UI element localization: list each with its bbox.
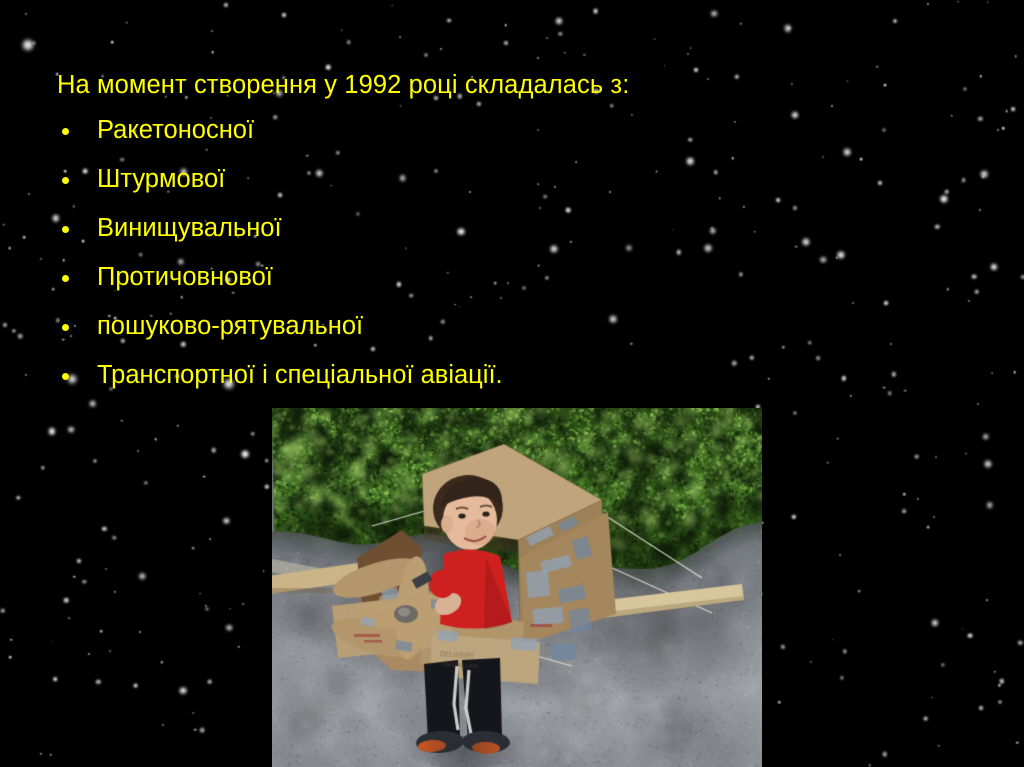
star-dot-icon: [112, 536, 116, 540]
star-dot-icon: [1015, 55, 1018, 58]
star-dot-icon: [211, 30, 213, 32]
star-dot-icon: [967, 300, 969, 302]
star-dot-icon: [707, 78, 709, 80]
star-dot-icon: [927, 526, 930, 529]
star-dot-icon: [504, 24, 507, 27]
list-item: Ракетоносної: [0, 114, 503, 163]
star-dot-icon: [194, 729, 197, 732]
star-dot-icon: [133, 683, 138, 688]
star-dot-icon: [933, 516, 935, 518]
star-dot-icon: [705, 245, 712, 252]
star-dot-icon: [868, 764, 871, 767]
star-dot-icon: [664, 65, 666, 67]
star-dot-icon: [987, 503, 993, 509]
star-dot-icon: [983, 434, 989, 440]
star-dot-icon: [347, 41, 351, 45]
star-dot-icon: [522, 287, 525, 290]
star-dot-icon: [49, 754, 52, 757]
star-dot-icon: [400, 105, 402, 107]
bullet-dot-icon: [62, 128, 69, 135]
star-dot-icon: [242, 451, 249, 458]
star-dot-icon: [121, 420, 123, 422]
star-dot-icon: [100, 630, 103, 633]
star-dot-icon: [242, 603, 244, 605]
star-dot-icon: [32, 41, 35, 44]
star-dot-icon: [1016, 742, 1018, 744]
star-dot-icon: [732, 361, 737, 366]
star-dot-icon: [23, 40, 33, 50]
star-dot-icon: [192, 712, 194, 714]
star-dot-icon: [41, 466, 44, 469]
star-dot-icon: [224, 3, 228, 7]
star-dot-icon: [776, 198, 780, 202]
presentation-slide: На момент створення у 1992 році складала…: [0, 0, 1024, 767]
star-dot-icon: [884, 301, 888, 305]
star-dot-icon: [914, 454, 919, 459]
star-dot-icon: [843, 650, 846, 653]
star-dot-icon: [137, 450, 139, 452]
star-dot-icon: [941, 195, 948, 202]
star-dot-icon: [803, 239, 810, 246]
star-dot-icon: [265, 459, 269, 463]
bullet-list: Ракетоносної Штурмової Винищувальної Про…: [0, 114, 503, 408]
star-dot-icon: [739, 23, 741, 25]
star-dot-icon: [10, 638, 13, 641]
star-dot-icon: [962, 178, 966, 182]
star-dot-icon: [997, 129, 999, 131]
star-dot-icon: [507, 282, 509, 284]
star-dot-icon: [895, 20, 897, 22]
star-dot-icon: [980, 75, 982, 77]
star-dot-icon: [251, 432, 255, 436]
star-dot-icon: [200, 728, 205, 733]
star-dot-icon: [111, 41, 114, 44]
star-dot-icon: [892, 372, 896, 376]
star-dot-icon: [88, 653, 90, 655]
star-dot-icon: [904, 389, 907, 392]
star-dot-icon: [944, 189, 949, 194]
star-dot-icon: [447, 19, 451, 23]
star-dot-icon: [53, 677, 57, 681]
star-dot-icon: [767, 377, 769, 379]
star-dot-icon: [810, 661, 812, 663]
star-dot-icon: [570, 241, 572, 243]
star-dot-icon: [265, 485, 269, 489]
star-dot-icon: [927, 3, 929, 5]
star-dot-icon: [986, 599, 988, 601]
star-dot-icon: [734, 121, 736, 123]
star-dot-icon: [554, 186, 556, 188]
star-dot-icon: [994, 670, 997, 673]
star-dot-icon: [1002, 127, 1005, 130]
star-dot-icon: [694, 68, 698, 72]
star-dot-icon: [226, 625, 232, 631]
star-dot-icon: [827, 461, 829, 463]
star-dot-icon: [82, 580, 85, 583]
star-dot-icon: [282, 13, 286, 17]
star-dot-icon: [546, 37, 548, 39]
star-dot-icon: [238, 646, 240, 648]
star-dot-icon: [836, 437, 839, 440]
star-dot-icon: [990, 264, 996, 270]
star-dot-icon: [858, 590, 861, 593]
star-dot-icon: [1011, 107, 1015, 111]
star-dot-icon: [543, 195, 547, 199]
star-dot-icon: [882, 129, 885, 132]
star-dot-icon: [179, 687, 186, 694]
star-dot-icon: [556, 18, 562, 24]
star-dot-icon: [145, 481, 148, 484]
star-dot-icon: [1018, 640, 1022, 644]
star-dot-icon: [941, 663, 944, 666]
star-dot-icon: [49, 428, 55, 434]
star-dot-icon: [341, 29, 343, 31]
star-dot-icon: [831, 105, 833, 107]
star-dot-icon: [539, 207, 541, 209]
star-dot-icon: [977, 403, 979, 405]
star-dot-icon: [25, 13, 27, 15]
star-dot-icon: [40, 753, 42, 755]
star-dot-icon: [958, 1, 960, 3]
star-dot-icon: [1013, 371, 1016, 374]
star-dot-icon: [964, 87, 967, 90]
star-dot-icon: [734, 75, 738, 79]
list-item: Транспортної і спеціальної авіації.: [0, 359, 503, 408]
star-dot-icon: [792, 514, 796, 518]
star-dot-icon: [550, 245, 557, 252]
star-dot-icon: [931, 697, 933, 699]
star-dot-icon: [575, 161, 577, 163]
star-dot-icon: [211, 51, 214, 54]
star-dot-icon: [538, 183, 540, 185]
star-dot-icon: [841, 376, 845, 380]
bullet-label: Протичовнової: [97, 261, 273, 294]
star-dot-icon: [109, 650, 111, 652]
star-dot-icon: [739, 273, 742, 276]
star-dot-icon: [440, 48, 442, 50]
star-dot-icon: [743, 205, 745, 207]
star-dot-icon: [711, 11, 717, 17]
star-dot-icon: [177, 424, 179, 426]
star-dot-icon: [0, 608, 5, 613]
star-dot-icon: [714, 170, 718, 174]
star-dot-icon: [883, 752, 888, 757]
star-dot-icon: [979, 706, 983, 710]
star-dot-icon: [155, 438, 158, 441]
star-dot-icon: [229, 608, 231, 610]
list-item: пошуково-рятувальної: [0, 310, 503, 359]
star-dot-icon: [965, 453, 967, 455]
star-dot-icon: [883, 84, 886, 87]
star-dot-icon: [718, 197, 721, 200]
star-dot-icon: [923, 716, 928, 721]
star-dot-icon: [981, 171, 988, 178]
star-dot-icon: [68, 427, 74, 433]
star-dot-icon: [125, 22, 127, 24]
star-dot-icon: [545, 277, 548, 280]
star-dot-icon: [732, 157, 734, 159]
star-dot-icon: [778, 701, 781, 704]
star-dot-icon: [852, 302, 854, 304]
star-dot-icon: [972, 274, 977, 279]
star-dot-icon: [832, 639, 834, 641]
star-dot-icon: [836, 256, 838, 258]
star-dot-icon: [788, 27, 790, 29]
star-dot-icon: [689, 138, 693, 142]
star-dot-icon: [985, 461, 992, 468]
star-dot-icon: [974, 289, 979, 294]
bullet-dot-icon: [62, 324, 69, 331]
star-dot-icon: [96, 679, 100, 683]
star-dot-icon: [931, 620, 937, 626]
star-dot-icon: [208, 679, 213, 684]
star-dot-icon: [9, 656, 12, 659]
star-dot-icon: [792, 112, 798, 118]
bullet-dot-icon: [62, 275, 69, 282]
bullet-label: Транспортної і спеціальної авіації.: [97, 359, 503, 392]
star-dot-icon: [1005, 110, 1008, 113]
bullet-label: пошуково-рятувальної: [97, 310, 363, 343]
star-dot-icon: [593, 9, 598, 14]
star-dot-icon: [687, 158, 694, 165]
star-dot-icon: [795, 245, 798, 248]
star-dot-icon: [808, 341, 812, 345]
bullet-dot-icon: [62, 177, 69, 184]
star-dot-icon: [890, 342, 892, 344]
list-item: Протичовнової: [0, 261, 503, 310]
star-dot-icon: [68, 617, 70, 619]
star-dot-icon: [938, 744, 941, 747]
star-dot-icon: [876, 65, 878, 67]
star-dot-icon: [610, 316, 617, 323]
star-dot-icon: [935, 456, 937, 458]
bullet-dot-icon: [62, 373, 69, 380]
star-dot-icon: [753, 230, 756, 233]
star-dot-icon: [162, 724, 164, 726]
star-dot-icon: [710, 228, 715, 233]
star-dot-icon: [840, 677, 843, 680]
star-dot-icon: [883, 386, 886, 389]
star-dot-icon: [105, 568, 107, 570]
star-dot-icon: [609, 191, 611, 193]
star-dot-icon: [968, 633, 973, 638]
star-dot-icon: [654, 38, 656, 40]
star-dot-icon: [791, 83, 793, 85]
star-dot-icon: [399, 36, 401, 38]
star-dot-icon: [878, 181, 882, 185]
star-dot-icon: [893, 19, 897, 23]
star-dot-icon: [917, 498, 919, 500]
list-item: Штурмової: [0, 163, 503, 212]
star-dot-icon: [888, 391, 892, 395]
star-dot-icon: [537, 57, 539, 59]
star-dot-icon: [999, 679, 1004, 684]
star-dot-icon: [16, 496, 19, 499]
star-dot-icon: [77, 559, 81, 563]
list-item: Винищувальної: [0, 212, 503, 261]
star-dot-icon: [998, 684, 1000, 686]
star-dot-icon: [192, 546, 195, 549]
star-dot-icon: [749, 355, 753, 359]
star-dot-icon: [961, 182, 963, 184]
star-dot-icon: [979, 209, 981, 211]
star-dot-icon: [822, 156, 824, 158]
star-dot-icon: [477, 102, 481, 106]
star-dot-icon: [785, 25, 791, 31]
star-dot-icon: [991, 372, 993, 374]
star-dot-icon: [224, 518, 229, 523]
star-dot-icon: [860, 158, 863, 161]
star-dot-icon: [676, 250, 680, 254]
star-dot-icon: [212, 448, 217, 453]
star-dot-icon: [847, 80, 849, 82]
star-dot-icon: [793, 206, 797, 210]
star-dot-icon: [563, 51, 565, 53]
star-dot-icon: [51, 641, 53, 643]
star-dot-icon: [209, 538, 211, 540]
star-dot-icon: [199, 593, 201, 595]
star-dot-icon: [610, 104, 614, 108]
star-dot-icon: [583, 53, 585, 55]
star-dot-icon: [839, 554, 841, 556]
star-dot-icon: [935, 225, 939, 229]
star-dot-icon: [982, 176, 984, 178]
photo-canvas-boy-in-cardboard-airplane: [272, 408, 762, 767]
star-dot-icon: [631, 114, 633, 116]
star-dot-icon: [816, 356, 820, 360]
star-dot-icon: [626, 245, 631, 250]
star-dot-icon: [672, 229, 674, 231]
star-dot-icon: [946, 288, 949, 291]
star-dot-icon: [537, 129, 539, 131]
star-dot-icon: [630, 342, 632, 344]
star-dot-icon: [94, 459, 97, 462]
star-dot-icon: [655, 170, 658, 173]
bullet-label: Штурмової: [97, 163, 225, 196]
star-dot-icon: [73, 576, 75, 578]
slide-photo: [272, 408, 762, 767]
star-dot-icon: [781, 645, 785, 649]
star-dot-icon: [978, 116, 982, 120]
star-dot-icon: [139, 574, 144, 579]
star-dot-icon: [504, 41, 508, 45]
star-dot-icon: [203, 475, 206, 478]
bullet-label: Винищувальної: [97, 212, 282, 245]
star-dot-icon: [114, 590, 116, 592]
star-dot-icon: [566, 208, 571, 213]
star-dot-icon: [838, 251, 845, 258]
slide-title: На момент створення у 1992 році складала…: [57, 71, 629, 100]
star-dot-icon: [537, 264, 540, 267]
star-dot-icon: [999, 700, 1002, 703]
star-dot-icon: [850, 395, 852, 397]
star-dot-icon: [205, 605, 207, 607]
star-dot-icon: [64, 598, 69, 603]
star-dot-icon: [794, 411, 797, 414]
star-dot-icon: [987, 1, 989, 3]
star-dot-icon: [326, 65, 331, 70]
bullet-dot-icon: [62, 226, 69, 233]
star-dot-icon: [711, 227, 713, 229]
star-dot-icon: [160, 661, 162, 663]
star-dot-icon: [820, 257, 826, 263]
star-dot-icon: [690, 47, 692, 49]
star-dot-icon: [962, 628, 964, 630]
star-dot-icon: [902, 509, 906, 513]
star-dot-icon: [950, 114, 953, 117]
star-dot-icon: [687, 53, 689, 55]
bullet-label: Ракетоносної: [97, 114, 254, 147]
star-dot-icon: [139, 631, 141, 633]
star-dot-icon: [559, 32, 562, 35]
star-dot-icon: [205, 608, 208, 611]
star-dot-icon: [782, 346, 784, 348]
star-dot-icon: [102, 527, 106, 531]
star-dot-icon: [844, 149, 851, 156]
star-dot-icon: [425, 53, 428, 56]
star-dot-icon: [263, 570, 265, 572]
star-dot-icon: [903, 493, 905, 495]
star-dot-icon: [391, 5, 393, 7]
